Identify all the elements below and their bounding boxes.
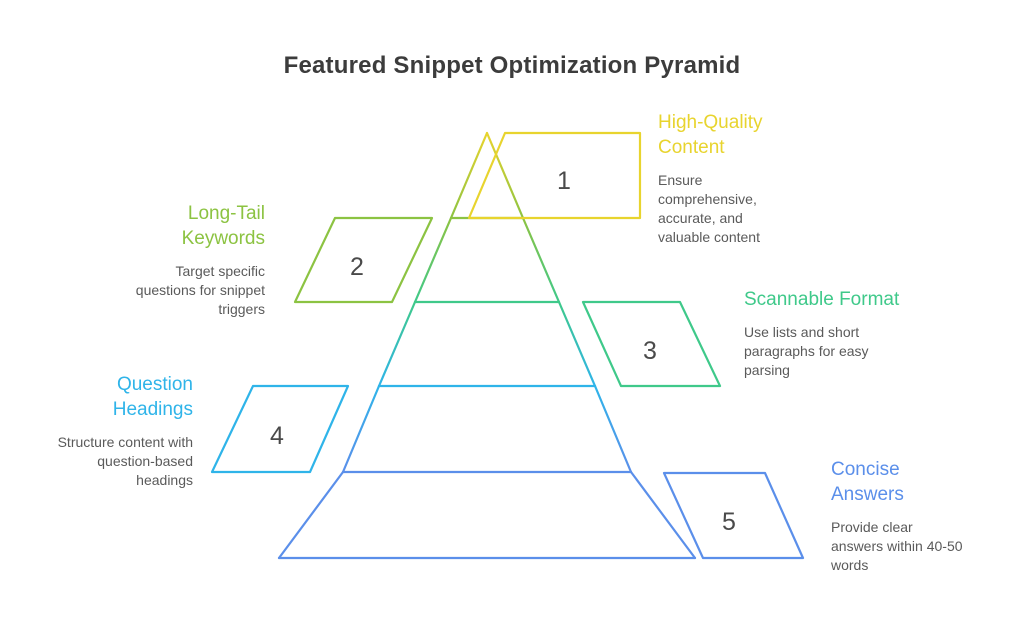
page-title: Featured Snippet Optimization Pyramid — [0, 52, 1024, 80]
pyramid-left-slope-2 — [415, 218, 451, 302]
pyramid-left-slope-1 — [451, 133, 487, 218]
pyramid-right-slope-5 — [631, 472, 695, 558]
tier-number-5: 5 — [722, 508, 736, 537]
callout-shape-1 — [469, 133, 640, 218]
tier-number-1: 1 — [557, 167, 571, 196]
tier-number-2: 2 — [350, 253, 364, 282]
callout-3-description: Use lists and short paragraphs for easy … — [744, 323, 904, 380]
pyramid-right-slope-2 — [523, 218, 559, 302]
pyramid-right-slope-1 — [487, 133, 523, 218]
callout-2-description: Target specific questions for snippet tr… — [131, 262, 265, 319]
callout-4-description: Structure content with question-based he… — [56, 433, 193, 490]
pyramid-right-slope-3 — [559, 302, 595, 386]
tier-number-4: 4 — [270, 422, 284, 451]
callout-1-heading: High-Quality Content — [658, 110, 786, 160]
callout-2: Long-Tail Keywords Target specific quest… — [131, 201, 265, 319]
callout-4: Question Headings Structure content with… — [56, 372, 193, 490]
callout-5-heading: Concise Answers — [831, 457, 967, 507]
callout-4-heading: Question Headings — [56, 372, 193, 422]
callout-1-description: Ensure comprehensive, accurate, and valu… — [658, 171, 786, 247]
callout-2-heading: Long-Tail Keywords — [131, 201, 265, 251]
infographic-canvas: Featured Snippet Optimization Pyramid — [0, 0, 1024, 633]
callout-1: High-Quality Content Ensure comprehensiv… — [658, 110, 786, 247]
tier-number-3: 3 — [643, 337, 657, 366]
callout-5-description: Provide clear answers within 40-50 words — [831, 518, 967, 575]
pyramid-left-slope-5 — [279, 472, 343, 558]
pyramid-left-slope-3 — [379, 302, 415, 386]
callout-3: Scannable Format Use lists and short par… — [744, 287, 904, 380]
pyramid-left-slope-4 — [343, 386, 379, 472]
callout-5: Concise Answers Provide clear answers wi… — [831, 457, 967, 575]
pyramid-right-slope-4 — [595, 386, 631, 472]
callout-3-heading: Scannable Format — [744, 287, 904, 312]
